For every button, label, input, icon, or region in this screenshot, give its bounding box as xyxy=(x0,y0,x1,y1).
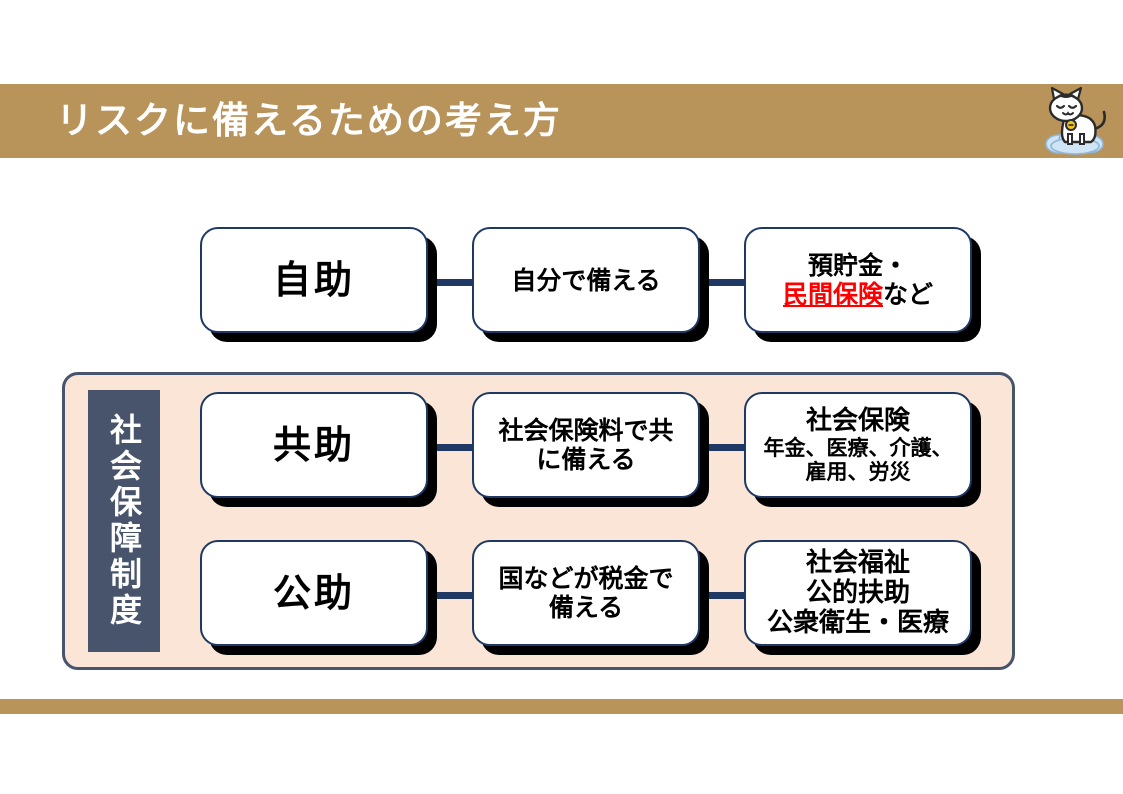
node-examples-jijo-line1: 預貯金・ xyxy=(746,251,970,280)
node-how-kyojo-line1: 社会保険料で共 xyxy=(474,416,698,445)
node-how-jijo-label: 自分で備える xyxy=(474,266,698,295)
node-how-kojo-line1: 国などが税金で xyxy=(474,564,698,593)
cat-on-cloud-mascot xyxy=(1035,82,1113,160)
node-category-kojo-label: 公助 xyxy=(202,571,426,615)
footer-band xyxy=(0,699,1123,714)
node-how-kojo[interactable]: 国などが税金で 備える xyxy=(472,540,700,646)
node-category-jijo-label: 自助 xyxy=(202,258,426,302)
node-how-jijo[interactable]: 自分で備える xyxy=(472,227,700,333)
node-examples-kojo[interactable]: 社会福祉 公的扶助 公衆衛生・医療 xyxy=(744,540,972,646)
page-title: リスクに備えるための考え方 xyxy=(56,96,916,146)
node-examples-jijo-label: 預貯金・ 民間保険など xyxy=(746,251,970,309)
node-examples-kyojo-label: 社会保険 年金、医療、介護、 雇用、労災 xyxy=(746,406,970,485)
node-examples-jijo-line2: 民間保険など xyxy=(746,280,970,309)
node-examples-kojo-line2: 公的扶助 xyxy=(746,578,970,608)
node-category-kojo[interactable]: 公助 xyxy=(200,540,428,646)
node-examples-kyojo-line2: 年金、医療、介護、 xyxy=(746,436,970,460)
node-how-kyojo-label: 社会保険料で共 に備える xyxy=(474,416,698,474)
node-category-jijo[interactable]: 自助 xyxy=(200,227,428,333)
node-examples-jijo-suffix: など xyxy=(883,280,933,309)
node-examples-jijo[interactable]: 預貯金・ 民間保険など xyxy=(744,227,972,333)
node-examples-jijo-highlight: 民間保険 xyxy=(783,280,883,309)
node-examples-kyojo-line1: 社会保険 xyxy=(746,406,970,436)
node-examples-kyojo[interactable]: 社会保険 年金、医療、介護、 雇用、労災 xyxy=(744,392,972,498)
node-category-kyojo-label: 共助 xyxy=(202,423,426,467)
node-examples-kyojo-line3: 雇用、労災 xyxy=(746,460,970,484)
node-how-kojo-label: 国などが税金で 備える xyxy=(474,564,698,622)
node-examples-kojo-line3: 公衆衛生・医療 xyxy=(746,608,970,638)
node-how-kyojo-line2: に備える xyxy=(474,445,698,474)
node-category-kyojo[interactable]: 共助 xyxy=(200,392,428,498)
node-examples-kojo-line1: 社会福祉 xyxy=(746,548,970,578)
social-security-vertical-label: 社会保障制度 xyxy=(88,390,160,652)
node-how-kyojo[interactable]: 社会保険料で共 に備える xyxy=(472,392,700,498)
node-examples-kojo-label: 社会福祉 公的扶助 公衆衛生・医療 xyxy=(746,548,970,638)
node-how-kojo-line2: 備える xyxy=(474,593,698,622)
